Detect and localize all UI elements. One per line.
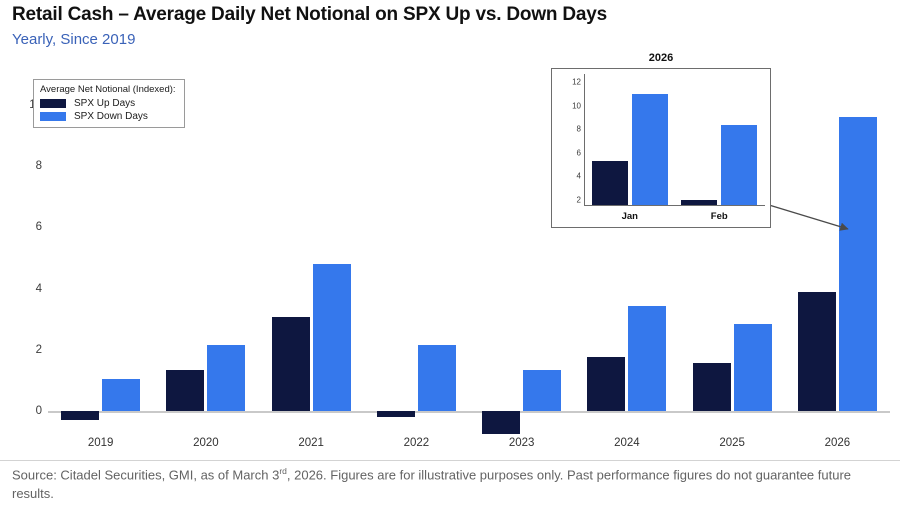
bar-2026-up xyxy=(798,292,836,411)
inset-x-axis-tick-label: Jan xyxy=(622,211,638,222)
bar-2025-up xyxy=(693,363,731,411)
inset-plot-area: 24681012JanFeb xyxy=(585,75,764,205)
bar-2023-up xyxy=(482,411,520,434)
y-axis-ticks: 0246810 xyxy=(10,0,42,455)
bar-2019-down xyxy=(102,379,140,411)
y-axis-tick-label: 0 xyxy=(16,405,42,417)
x-axis-labels: 20192020202120222023202420252026 xyxy=(48,437,890,457)
x-axis-tick-label: 2021 xyxy=(298,437,324,449)
inset-y-axis-tick-label: 12 xyxy=(572,78,581,87)
y-axis-tick-label: 6 xyxy=(16,221,42,233)
bar-2024-down xyxy=(628,306,666,411)
bar-2021-up xyxy=(272,317,310,411)
bar-2020-down xyxy=(207,345,245,411)
inset-bar-Jan-down xyxy=(632,94,668,205)
legend-label-down: SPX Down Days xyxy=(74,111,148,122)
x-axis-tick-label: 2019 xyxy=(88,437,114,449)
legend-title: Average Net Notional (Indexed): xyxy=(40,84,176,95)
legend-swatch-up-icon xyxy=(40,99,66,108)
x-axis-tick-label: 2024 xyxy=(614,437,640,449)
legend: Average Net Notional (Indexed): SPX Up D… xyxy=(33,79,185,128)
y-axis-tick-label: 4 xyxy=(16,283,42,295)
y-axis-tick-label: 8 xyxy=(16,160,42,172)
inset-bar-Feb-down xyxy=(721,125,757,205)
inset-bar-Jan-up xyxy=(592,161,628,205)
bar-2025-down xyxy=(734,324,772,411)
legend-item-spx-up-days: SPX Up Days xyxy=(40,98,176,109)
x-axis-tick-label: 2023 xyxy=(509,437,535,449)
inset-y-axis-tick-label: 6 xyxy=(577,148,581,157)
chart-root: Retail Cash – Average Daily Net Notional… xyxy=(0,0,900,509)
x-axis-tick-label: 2025 xyxy=(719,437,745,449)
inset-title: 2026 xyxy=(552,52,770,64)
y-axis-tick-label: 2 xyxy=(16,344,42,356)
bar-2022-up xyxy=(377,411,415,417)
bar-2019-up xyxy=(61,411,99,420)
inset-x-axis-line xyxy=(584,205,765,206)
inset-chart: 2026 24681012JanFeb xyxy=(551,68,771,228)
x-axis-tick-label: 2020 xyxy=(193,437,219,449)
bar-2026-down xyxy=(839,117,877,411)
footer-divider xyxy=(0,460,900,461)
inset-y-axis-tick-label: 10 xyxy=(572,101,581,110)
bar-2024-up xyxy=(587,357,625,411)
legend-item-spx-down-days: SPX Down Days xyxy=(40,111,176,122)
legend-label-up: SPX Up Days xyxy=(74,98,135,109)
bar-2022-down xyxy=(418,345,456,411)
bar-2020-up xyxy=(166,370,204,411)
inset-y-axis-tick-label: 8 xyxy=(577,125,581,134)
inset-bar-Feb-up xyxy=(681,200,717,205)
x-axis-tick-label: 2026 xyxy=(825,437,851,449)
source-prefix: Source: Citadel Securities, GMI, as of M… xyxy=(12,467,279,482)
bar-2023-down xyxy=(523,370,561,411)
source-ordinal: rd xyxy=(279,466,287,476)
inset-x-axis-tick-label: Feb xyxy=(711,211,728,222)
inset-y-axis-tick-label: 2 xyxy=(577,195,581,204)
x-axis-tick-label: 2022 xyxy=(404,437,430,449)
legend-swatch-down-icon xyxy=(40,112,66,121)
inset-y-axis-tick-label: 4 xyxy=(577,172,581,181)
bar-2021-down xyxy=(313,264,351,411)
source-note: Source: Citadel Securities, GMI, as of M… xyxy=(12,465,890,504)
